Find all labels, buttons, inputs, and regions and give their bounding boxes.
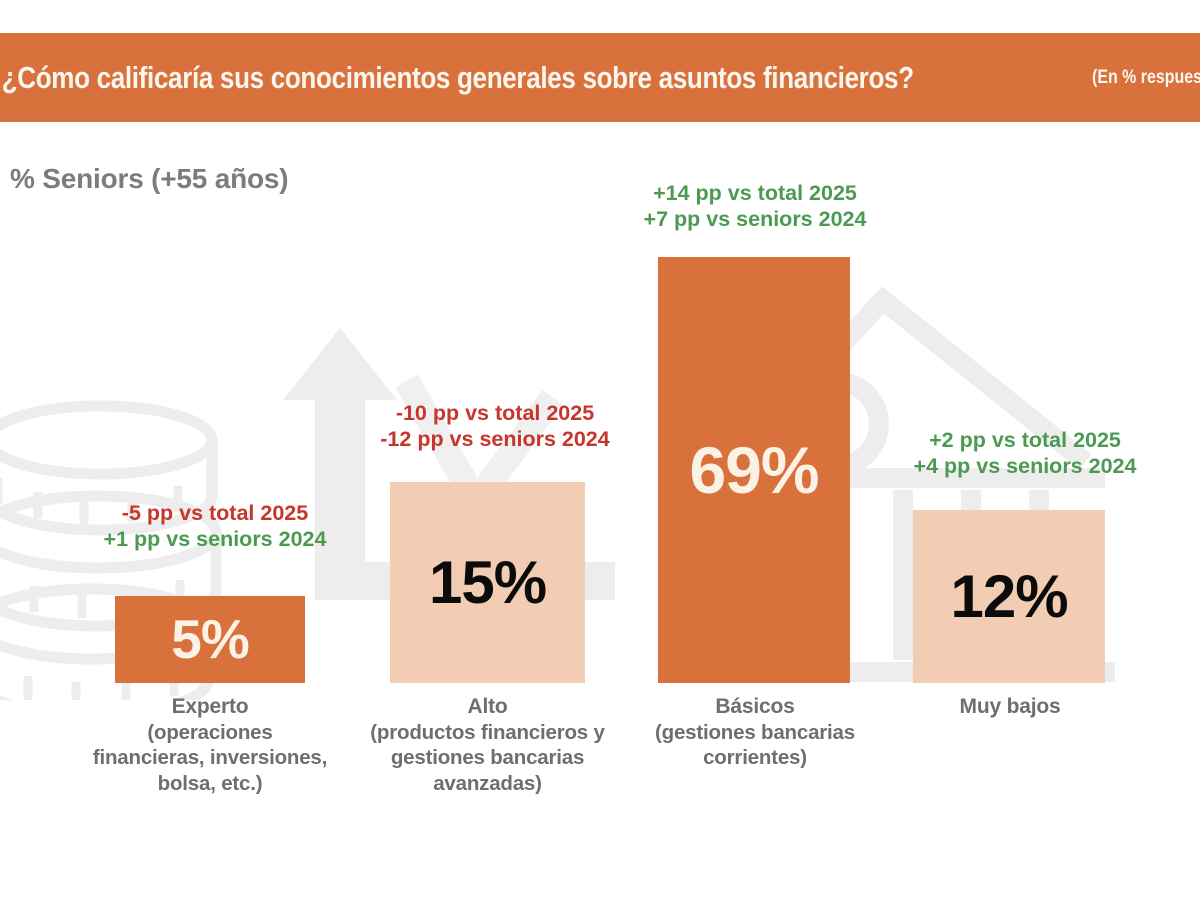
category-desc-alto-l1: (productos financieros y <box>345 720 630 745</box>
category-name-experto: Experto <box>65 694 355 720</box>
category-name-alto: Alto <box>345 694 630 720</box>
bar-experto[interactable]: 5% <box>115 596 305 683</box>
category-label-muy-bajos: Muy bajos <box>875 694 1145 720</box>
bar-value-muy-bajos: 12% <box>950 567 1067 627</box>
category-label-alto: Alto (productos financieros y gestiones … <box>345 694 630 796</box>
category-desc-alto-l2: gestiones bancarias <box>345 745 630 770</box>
category-desc-basicos-l1: (gestiones bancarias <box>620 720 890 745</box>
annotation-vs-total-basicos: +14 pp vs total 2025 <box>585 180 925 206</box>
category-label-experto: Experto (operaciones financieras, invers… <box>65 694 355 796</box>
annotation-group-basicos: +14 pp vs total 2025 +7 pp vs seniors 20… <box>585 180 925 232</box>
annotation-group-muy-bajos: +2 pp vs total 2025 +4 pp vs seniors 202… <box>855 427 1195 479</box>
annotation-group-experto: -5 pp vs total 2025 +1 pp vs seniors 202… <box>45 500 385 552</box>
bar-value-basicos: 69% <box>689 437 818 503</box>
category-desc-alto-l3: avanzadas) <box>345 771 630 796</box>
plot-area: -5 pp vs total 2025 +1 pp vs seniors 202… <box>0 122 1200 900</box>
annotation-vs-seniors-muy-bajos: +4 pp vs seniors 2024 <box>855 453 1195 479</box>
category-desc-experto-l1: (operaciones <box>65 720 355 745</box>
category-name-basicos: Básicos <box>620 694 890 720</box>
bar-value-alto: 15% <box>429 553 546 613</box>
chart-title-note: (En % respuesta única <box>1092 67 1200 89</box>
category-name-muy-bajos: Muy bajos <box>875 694 1145 720</box>
bar-basicos[interactable]: 69% <box>658 257 850 683</box>
category-label-basicos: Básicos (gestiones bancarias corrientes) <box>620 694 890 771</box>
annotation-vs-seniors-alto: -12 pp vs seniors 2024 <box>325 426 665 452</box>
annotation-vs-total-muy-bajos: +2 pp vs total 2025 <box>855 427 1195 453</box>
annotation-vs-seniors-experto: +1 pp vs seniors 2024 <box>45 526 385 552</box>
annotation-group-alto: -10 pp vs total 2025 -12 pp vs seniors 2… <box>325 400 665 452</box>
annotation-vs-total-alto: -10 pp vs total 2025 <box>325 400 665 426</box>
header-band: ¿Cómo calificaría sus conocimientos gene… <box>0 33 1200 122</box>
category-desc-experto-l2: financieras, inversiones, <box>65 745 355 770</box>
bar-muy-bajos[interactable]: 12% <box>913 510 1105 683</box>
bar-alto[interactable]: 15% <box>390 482 585 683</box>
chart-canvas: ¿Cómo calificaría sus conocimientos gene… <box>0 0 1200 900</box>
bar-value-experto: 5% <box>171 612 249 667</box>
chart-title: ¿Cómo calificaría sus conocimientos gene… <box>0 60 914 96</box>
annotation-vs-seniors-basicos: +7 pp vs seniors 2024 <box>585 206 925 232</box>
category-desc-experto-l3: bolsa, etc.) <box>65 771 355 796</box>
category-desc-basicos-l2: corrientes) <box>620 745 890 770</box>
annotation-vs-total-experto: -5 pp vs total 2025 <box>45 500 385 526</box>
